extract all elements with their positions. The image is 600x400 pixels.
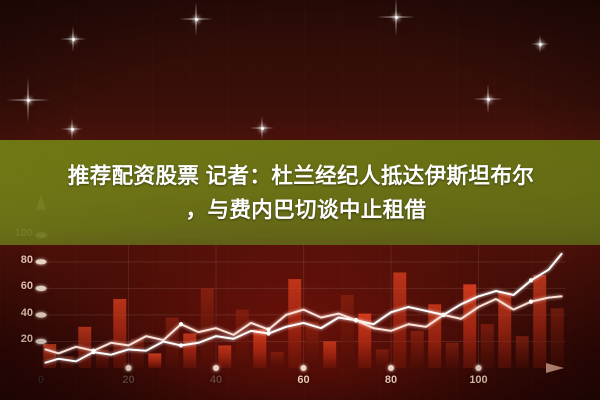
title-band xyxy=(0,140,600,245)
title-band-texture xyxy=(0,140,600,245)
screenshot-canvas: 20406080100020406080100 推荐配资股票 记者：杜兰经纪人抵… xyxy=(0,0,600,400)
